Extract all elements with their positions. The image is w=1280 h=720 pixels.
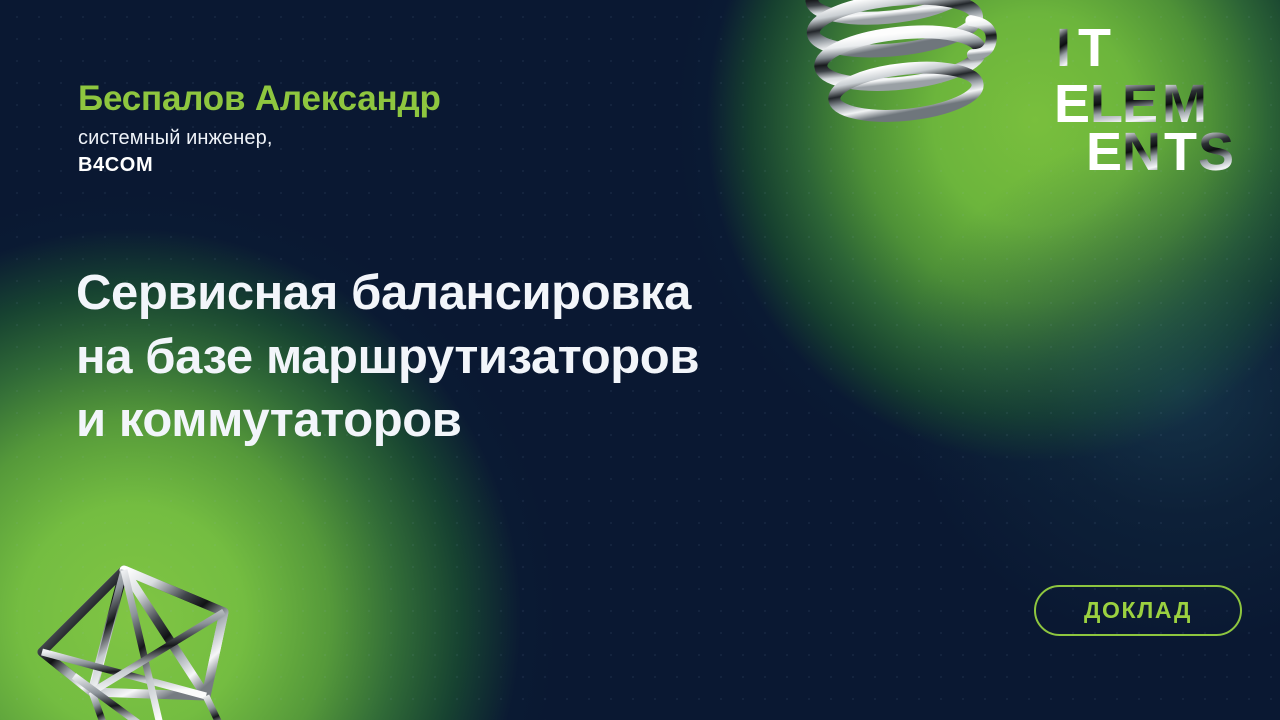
slide-title-line-3: и коммутаторов — [76, 389, 1036, 453]
logo-letter-i: I — [1056, 18, 1070, 78]
slide-title-line-1: Сервисная балансировка — [76, 262, 1036, 326]
session-type-badge-label: ДОКЛАД — [1084, 597, 1192, 624]
logo-letter-e2: E — [1086, 122, 1121, 182]
speaker-name: Беспалов Александр — [78, 78, 698, 119]
session-type-badge[interactable]: ДОКЛАД — [1034, 585, 1242, 636]
slide-title: Сервисная балансировка на базе маршрутиз… — [76, 262, 1036, 453]
chrome-polyhedron-icon — [14, 556, 306, 720]
presentation-slide: I T E LE M E N T S Беспалов Александр си… — [0, 0, 1280, 720]
speaker-role: системный инженер, — [78, 125, 698, 151]
slide-title-line-2: на базе маршрутизаторов — [76, 326, 1036, 390]
logo-letter-t2: T — [1164, 122, 1197, 182]
chrome-spring-icon — [777, 0, 1026, 154]
it-elements-logo: I T E LE M E N T S — [1052, 18, 1248, 182]
logo-letter-n: N — [1122, 122, 1160, 182]
speaker-block: Беспалов Александр системный инженер, B4… — [78, 78, 698, 178]
speaker-company: B4COM — [78, 152, 698, 178]
logo-letter-e1: E — [1054, 74, 1089, 134]
logo-letter-s: S — [1198, 122, 1233, 182]
logo-letter-t: T — [1078, 18, 1111, 78]
